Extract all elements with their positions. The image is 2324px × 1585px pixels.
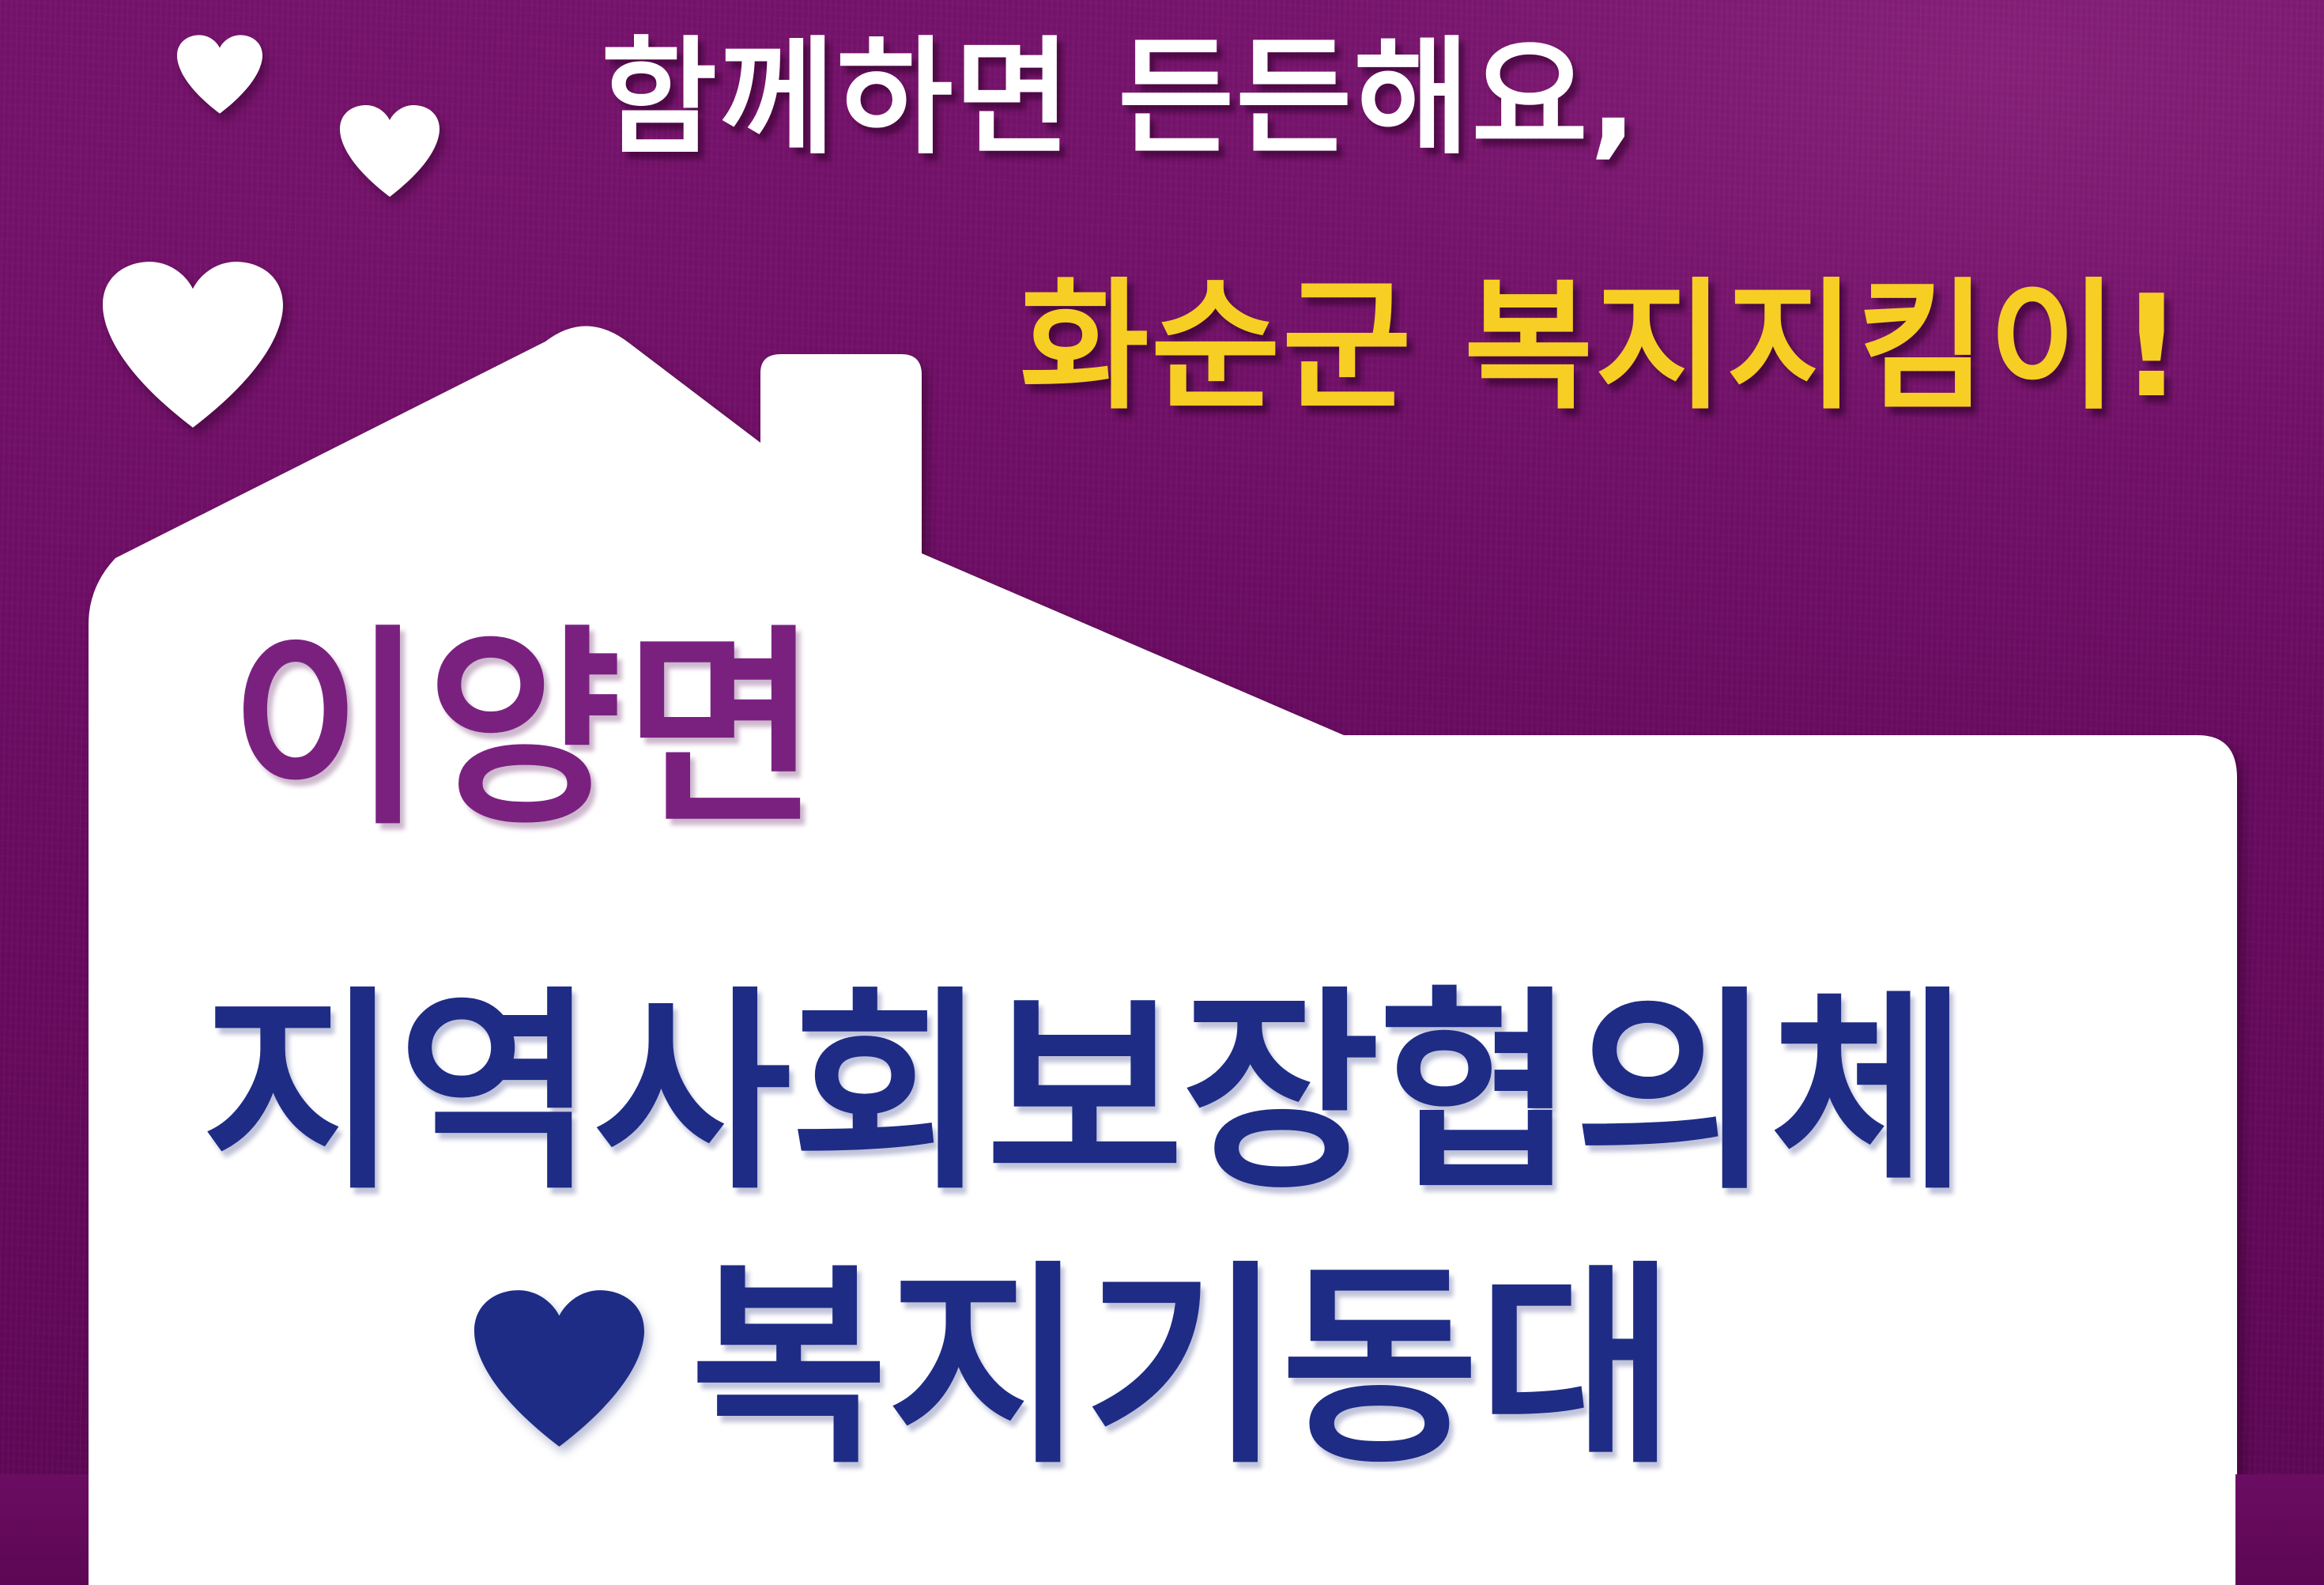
bottom-left-rail: [0, 1474, 89, 1585]
heart-icon: [340, 104, 440, 198]
heart-icon: [177, 35, 262, 114]
district-name: 이양면: [229, 625, 821, 836]
heart-icon: [103, 261, 283, 428]
tagline-line-2: 화순군 복지지킴이!: [1020, 277, 2186, 417]
team-name: 복지기동대: [690, 1261, 1675, 1476]
welfare-banner-board: 함께하면 든든해요, 화순군 복지지킴이! 이양면 지역사회보장협의체 복지기동…: [0, 0, 2324, 1585]
tagline-line-1: 함께하면 든든해요,: [601, 35, 1639, 161]
heart-icon: [474, 1289, 644, 1447]
organization-name: 지역사회보장협의체: [202, 987, 1967, 1202]
bottom-right-rail: [2235, 1474, 2324, 1585]
team-row: 복지기동대: [474, 1261, 1675, 1476]
